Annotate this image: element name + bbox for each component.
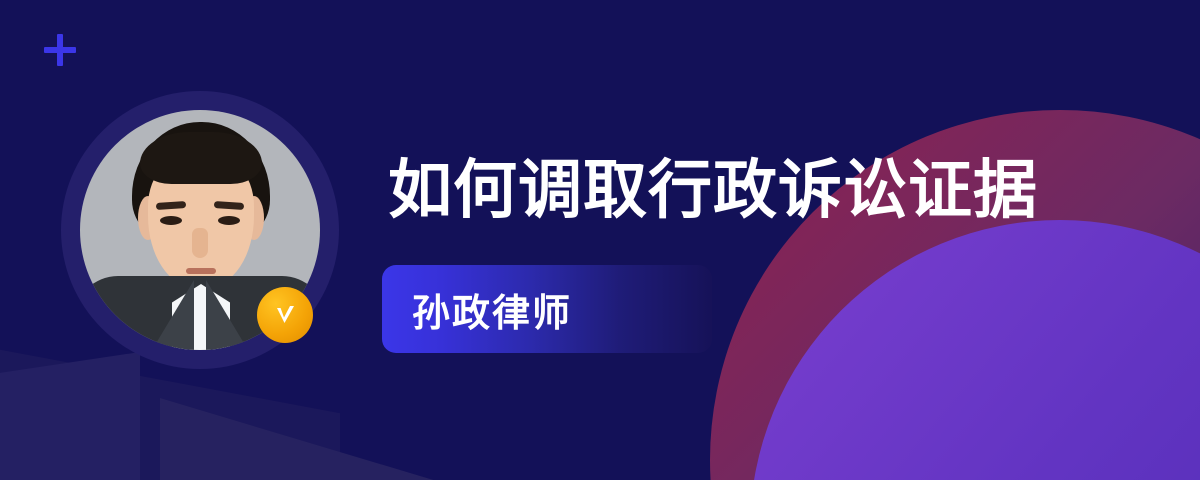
portrait-mouth <box>186 268 216 274</box>
avatar <box>61 91 339 369</box>
status-badge: 孙政律师 <box>382 265 712 353</box>
plus-icon <box>44 34 76 66</box>
decor-quad-shape-left <box>0 352 140 480</box>
page-title: 如何调取行政诉讼证据 <box>388 158 1038 222</box>
decor-triangle-shape-left <box>160 398 460 480</box>
verified-badge-icon <box>257 287 313 343</box>
portrait-eye-right <box>218 216 240 225</box>
portrait-fringe <box>140 132 262 184</box>
portrait-eye-left <box>160 216 182 225</box>
portrait-nose <box>192 228 208 258</box>
promo-banner: 如何调取行政诉讼证据 孙政律师 <box>0 0 1200 480</box>
lawyer-name-label: 孙政律师 <box>412 282 572 337</box>
decor-arc-purple <box>750 220 1200 480</box>
